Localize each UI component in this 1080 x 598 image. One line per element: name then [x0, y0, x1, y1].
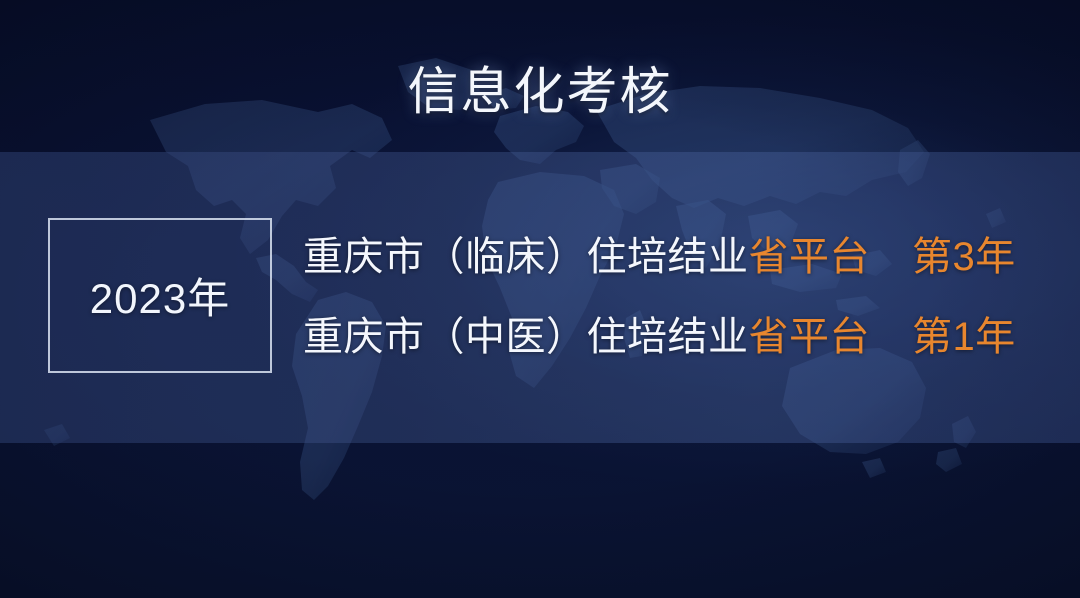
row-platform-badge: 省平台: [749, 224, 871, 282]
row-rank-badge: 第1年: [912, 304, 1016, 362]
year-label: 2023年: [90, 265, 230, 326]
list-item: 重庆市（中医）住培结业 省平台 第1年: [303, 304, 1043, 384]
row-platform-badge: 省平台: [749, 304, 871, 362]
row-description: 重庆市（中医）住培结业: [303, 304, 749, 362]
content-list: 重庆市（临床）住培结业 省平台 第3年 重庆市（中医）住培结业 省平台 第1年: [303, 224, 1043, 384]
list-item: 重庆市（临床）住培结业 省平台 第3年: [303, 224, 1043, 304]
year-box: 2023年: [48, 218, 272, 373]
row-description: 重庆市（临床）住培结业: [303, 224, 749, 282]
slide-canvas: 信息化考核 2023年 重庆市（临床）住培结业 省平台 第3年 重庆市（中医）住…: [0, 0, 1080, 598]
row-rank-badge: 第3年: [912, 224, 1016, 282]
page-title: 信息化考核: [0, 63, 1080, 120]
